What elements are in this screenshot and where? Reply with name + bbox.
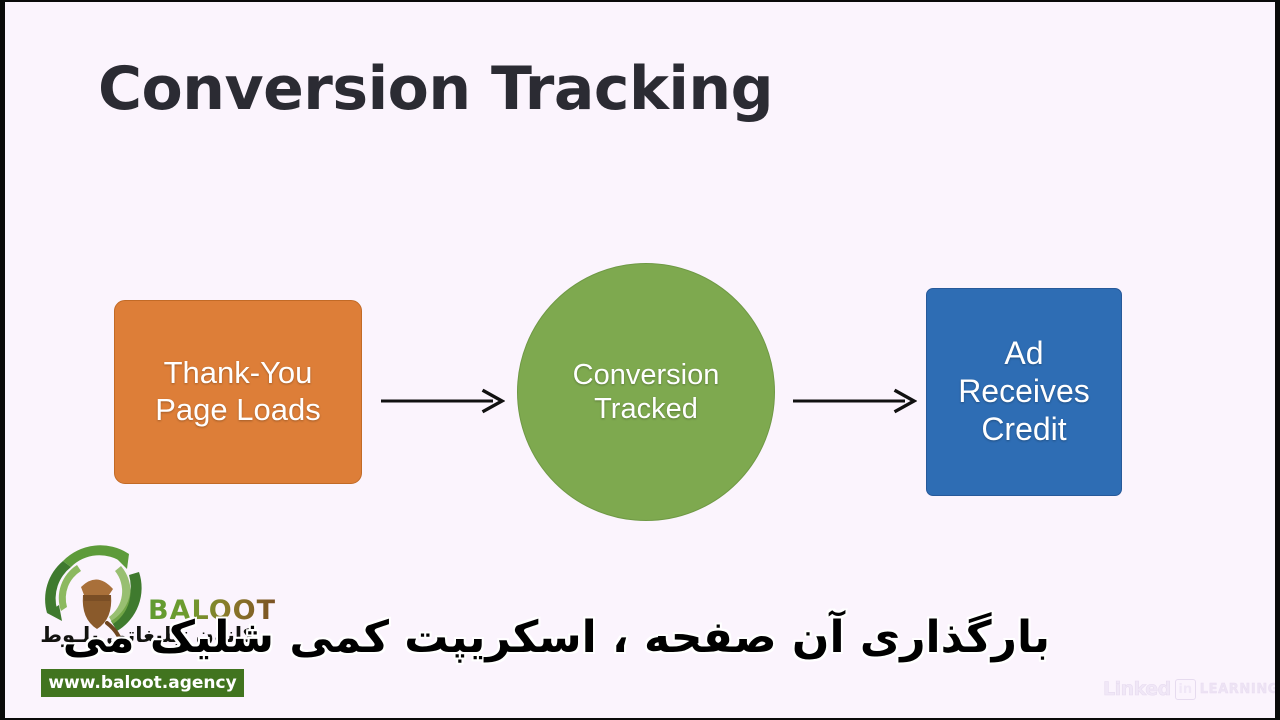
diagram-node-label: Thank-You Page Loads: [155, 355, 320, 428]
arrow-right-icon-1: [381, 384, 505, 418]
linkedin-wordmark: Linked: [1103, 678, 1171, 700]
diagram-node-label: Conversion Tracked: [573, 358, 720, 426]
subtitle-caption-persian: بارگذاری آن صفحه ، اسکریپت کمی شلیک می: [260, 610, 1050, 665]
linkedin-learning-watermark: Linked in LEARNING: [1103, 678, 1279, 700]
logo-url-text: www.baloot.agency: [48, 673, 236, 693]
diagram-node-ad-receives-credit: Ad Receives Credit: [926, 288, 1122, 496]
page-title: Conversion Tracking: [98, 54, 773, 124]
arrow-right-icon-2: [793, 384, 917, 418]
diagram-node-thank-you-page-loads: Thank-You Page Loads: [114, 300, 362, 484]
linkedin-in-badge-icon: in: [1175, 679, 1196, 700]
diagram-node-conversion-tracked: Conversion Tracked: [517, 263, 775, 521]
logo-url-banner: www.baloot.agency: [41, 669, 244, 697]
diagram-node-label: Ad Receives Credit: [958, 335, 1090, 448]
learning-wordmark: LEARNING: [1200, 682, 1279, 697]
slide-canvas: Conversion Tracking Thank-You Page Loads…: [0, 0, 1280, 720]
